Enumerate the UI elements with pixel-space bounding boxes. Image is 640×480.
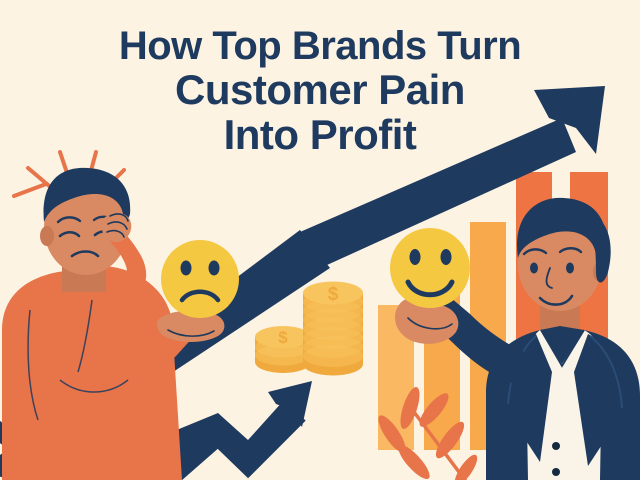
poster-canvas: $ $ <box>0 0 640 480</box>
leaf <box>415 389 453 430</box>
orange-leaf-sprig <box>0 0 640 480</box>
leaf <box>394 441 434 480</box>
leaf <box>397 385 424 431</box>
